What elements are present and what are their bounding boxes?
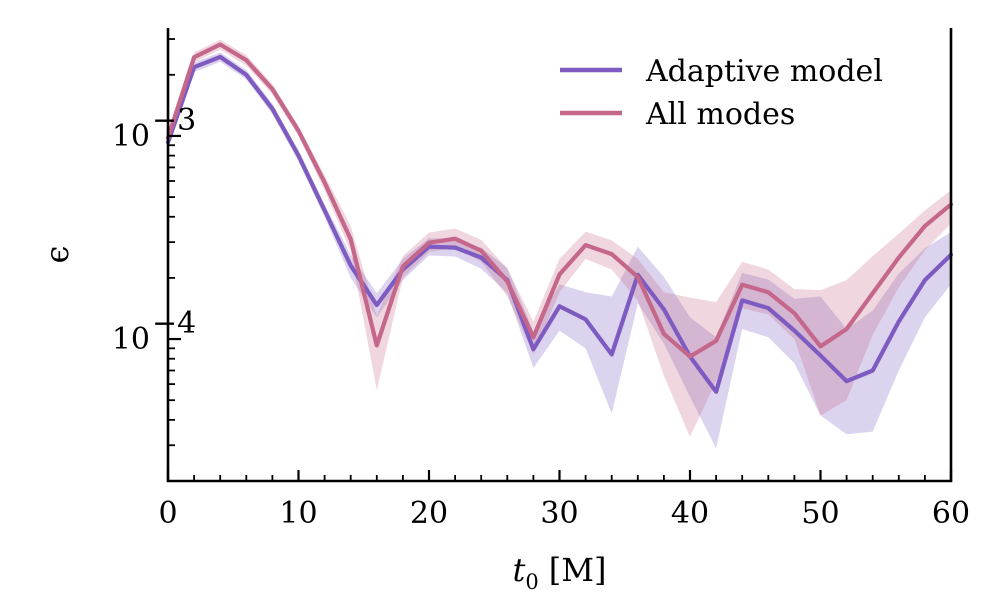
uncertainty-bands bbox=[168, 40, 951, 449]
legend-label: All modes bbox=[645, 97, 795, 132]
x-tick-label-0: 0 bbox=[158, 496, 177, 531]
y-axis-label: ϵ bbox=[38, 246, 76, 264]
svg-text:−4: −4 bbox=[152, 306, 196, 341]
x-tick-label-40: 40 bbox=[671, 496, 709, 531]
error-vs-t0-chart: 010203040506010−310−4 Adaptive modelAll … bbox=[0, 0, 1000, 610]
x-axis-label: t0[M] bbox=[513, 551, 607, 594]
x-tick-label-50: 50 bbox=[801, 496, 839, 531]
figure-canvas: 010203040506010−310−4 Adaptive modelAll … bbox=[0, 0, 1000, 610]
x-tick-label-20: 20 bbox=[410, 496, 448, 531]
y-tick-label-1: 10−4 bbox=[112, 306, 196, 357]
svg-text:10: 10 bbox=[112, 119, 150, 154]
series-lines bbox=[168, 44, 951, 391]
y-tick-label-0: 10−3 bbox=[112, 103, 196, 154]
x-tick-label-60: 60 bbox=[932, 496, 970, 531]
legend-label: Adaptive model bbox=[645, 54, 883, 89]
band-all-modes-band bbox=[168, 40, 951, 437]
x-tick-label-10: 10 bbox=[279, 496, 317, 531]
x-tick-label-30: 30 bbox=[540, 496, 578, 531]
legend-item-adaptive-model[interactable]: Adaptive model bbox=[560, 54, 883, 89]
svg-text:10: 10 bbox=[112, 322, 150, 357]
svg-text:−3: −3 bbox=[152, 103, 196, 138]
legend-item-all-modes[interactable]: All modes bbox=[560, 97, 795, 132]
chart-legend: Adaptive modelAll modes bbox=[560, 54, 883, 132]
